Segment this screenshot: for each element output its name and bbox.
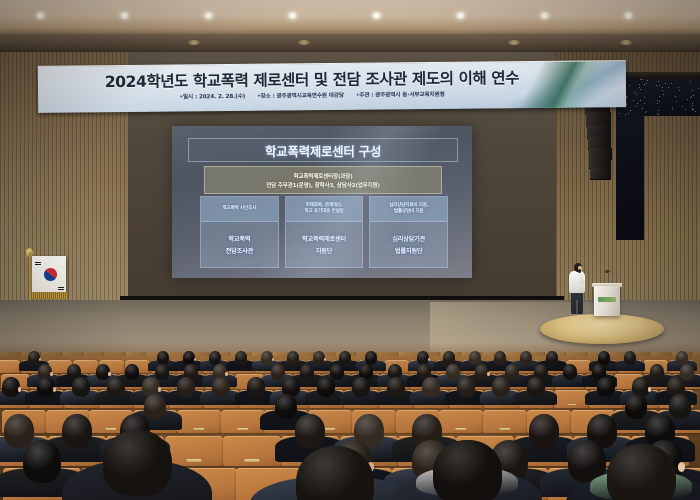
recessed-downlight (188, 40, 200, 45)
recessed-downlight (298, 40, 310, 45)
drape-star (630, 110, 631, 111)
audience-member-head (625, 394, 647, 419)
speaker-cabinet (590, 167, 611, 180)
audience-member-ear (108, 372, 111, 376)
audience-member-head (295, 414, 325, 448)
audience-member-ear (428, 358, 430, 361)
audience-member-head (107, 377, 125, 397)
audience-member-head (520, 351, 532, 365)
ceiling (0, 0, 700, 36)
recessed-downlight (620, 40, 632, 45)
audience-member-head (209, 351, 221, 365)
drape-star (644, 97, 645, 98)
audience-seat (0, 360, 20, 373)
foreground-attendee-head (103, 430, 172, 496)
audience-member-head (624, 351, 636, 365)
banner-place: •장소 : 광주광역시교육연수원 대강당 (257, 93, 344, 100)
drape-star (663, 94, 664, 95)
audience-member-head (529, 414, 559, 448)
drape-star (635, 106, 636, 107)
audience-member-head (177, 377, 195, 397)
audience-member-head (4, 414, 34, 448)
audience-member-head (365, 351, 377, 365)
drape-star (634, 92, 635, 93)
drape-star (672, 109, 673, 110)
audience-member-head (527, 377, 545, 397)
audience-member-head (155, 364, 169, 380)
drape-star (692, 105, 693, 106)
audience-member-head (72, 377, 90, 397)
presenter-leg-gap (576, 300, 578, 314)
circular-stage-riser (540, 314, 664, 344)
ceiling-light (120, 12, 129, 19)
audience-member-head (505, 364, 519, 380)
drape-star (640, 100, 641, 101)
auditorium-photo: 2024학년도 학교폭력 제로센터 및 전담 조사관 제도의 이해 연수 •일시… (0, 0, 700, 500)
drape-star (668, 87, 669, 88)
drape-star (646, 83, 647, 84)
audience-seat (439, 410, 483, 433)
drape-star (671, 83, 672, 84)
audience-member-head (287, 351, 299, 365)
audience-member-ear (18, 387, 21, 392)
drape-star (690, 97, 691, 98)
flag-fringe (30, 292, 68, 299)
recessed-downlight (508, 40, 520, 45)
audience-seat (177, 410, 221, 433)
audience-member-head (469, 351, 481, 365)
audience-member-ear (225, 372, 228, 376)
audience-member-head (62, 414, 92, 448)
banner-date: •일시 : 2024. 2. 28.(수) (179, 94, 245, 101)
podium-emblem (598, 297, 616, 302)
drape-star (640, 79, 641, 80)
audience-seat (483, 410, 527, 433)
audience-member-head (125, 364, 139, 380)
projection-screen: 학교폭력제로센터 구성 학교폭력제로센터장(과장) 전담 주무관1(운영), 장… (172, 126, 472, 278)
event-banner: 2024학년도 학교폭력 제로센터 및 전담 조사관 제도의 이해 연수 •일시… (38, 60, 626, 113)
audience-member-ear (324, 358, 326, 361)
audience-member-head (23, 440, 61, 483)
foreground-attendee-head (433, 440, 502, 500)
audience-member-head (422, 377, 440, 397)
audience-member-head (352, 377, 370, 397)
audience-member-head (492, 377, 510, 397)
ceiling-light (372, 12, 381, 19)
audience-member-head (144, 394, 166, 419)
audience-member-head (443, 351, 455, 365)
drape-star (642, 108, 643, 109)
audience-seat (223, 436, 281, 466)
audience-member-head (275, 394, 297, 419)
drape-star (692, 90, 693, 91)
drape-star (662, 87, 663, 88)
audience-member-head (317, 377, 335, 397)
audience-member-head (157, 351, 169, 365)
audience-member-head (457, 377, 475, 397)
audience-member-head (597, 377, 615, 397)
audience-member-ear (194, 358, 196, 361)
audience-member-ear (50, 372, 53, 376)
screen-glare (172, 126, 472, 278)
audience-member-ear (272, 358, 274, 361)
audience-member-head (494, 351, 506, 365)
audience-member-head (330, 364, 344, 380)
handheld-microphone-icon (578, 269, 581, 273)
audience-member-ear (648, 387, 651, 392)
audience-member-head (546, 351, 558, 365)
audience-member-head (235, 351, 247, 365)
drape-star (647, 80, 648, 81)
audience-member-head (446, 364, 460, 380)
drape-star (659, 101, 660, 102)
drape-star (659, 96, 660, 97)
audience-member-ear (158, 387, 161, 392)
ceiling-light (36, 12, 45, 19)
audience-member-head (650, 364, 664, 380)
drape-star (682, 106, 683, 107)
drape-star (658, 114, 659, 115)
ceiling-light (624, 12, 633, 19)
audience-member-head (300, 364, 314, 380)
foreground-attendee-head (607, 444, 676, 500)
audience-seat (165, 436, 223, 466)
audience-member-ear (39, 358, 41, 361)
audience-member-head (271, 364, 285, 380)
audience-member-head (680, 364, 694, 380)
drape-star (678, 87, 679, 88)
audience-member-ear (487, 372, 490, 376)
audience-seat (554, 390, 589, 408)
audience-member-head (339, 351, 351, 365)
taeguk-symbol (44, 268, 57, 281)
audience-member-head (676, 351, 688, 365)
ceiling-light (288, 12, 297, 19)
drape-star (636, 94, 637, 95)
drape-star (693, 109, 694, 110)
audience-member-ear (53, 387, 56, 392)
audience-member-head (247, 377, 265, 397)
audience-seat (221, 410, 265, 433)
ceiling-light (540, 12, 549, 19)
audience-member-head (669, 394, 691, 419)
banner-host: •주관 : 광주광역시 동·서부교육지원청 (356, 92, 445, 99)
audience-member-head (212, 377, 230, 397)
drape-star (691, 96, 692, 97)
audience-member-head (598, 351, 610, 365)
audience-member-head (563, 364, 577, 380)
ceiling-light (204, 12, 213, 19)
ceiling-light (456, 12, 465, 19)
drape-star (657, 113, 658, 114)
audience-member-head (387, 377, 405, 397)
